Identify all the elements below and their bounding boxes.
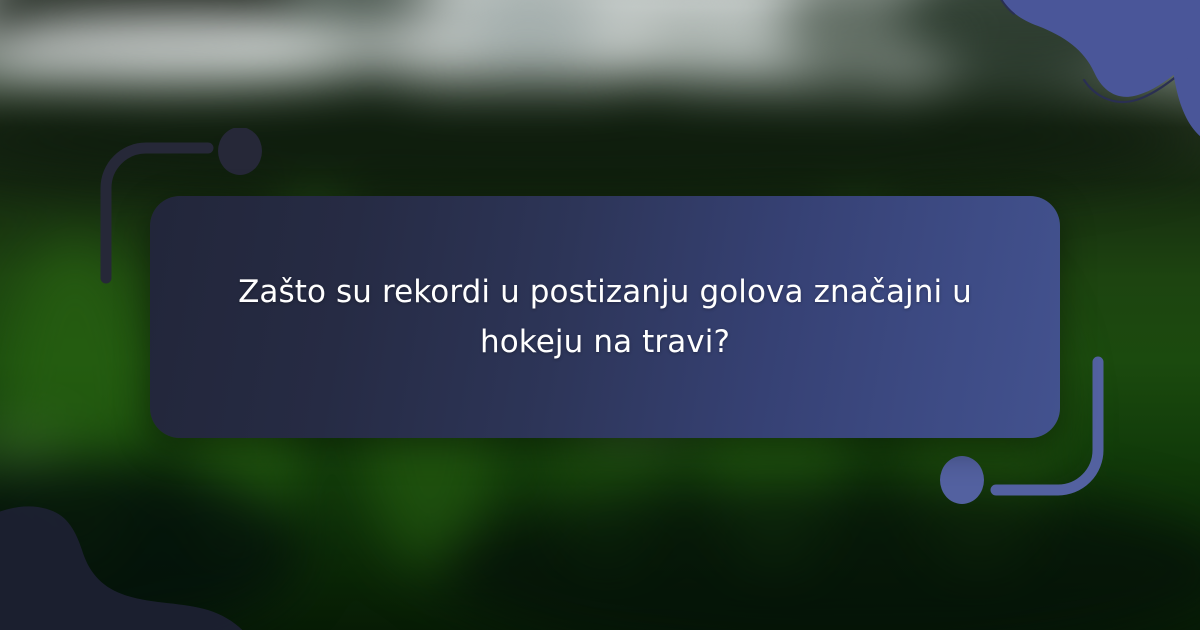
bottom-left-organic-blob bbox=[0, 490, 270, 630]
accent-dot-icon bbox=[218, 128, 262, 175]
question-card: Zašto su rekordi u postizanju golova zna… bbox=[150, 196, 1060, 438]
accent-dot-icon bbox=[940, 456, 984, 504]
question-text: Zašto su rekordi u postizanju golova zna… bbox=[210, 267, 1000, 367]
top-right-organic-blob bbox=[976, 0, 1200, 202]
question-card-graphic: Zašto su rekordi u postizanju golova zna… bbox=[0, 0, 1200, 630]
